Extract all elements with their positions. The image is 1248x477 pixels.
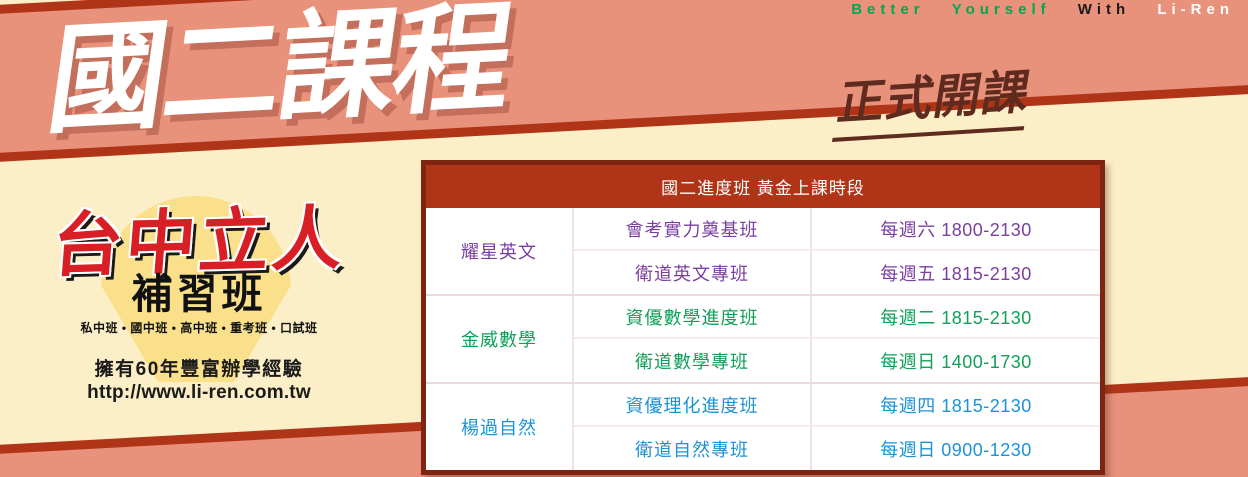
schedule-group-rows: 資優理化進度班每週四 1815-2130衛道自然專班每週日 0900-1230 [574, 384, 1100, 470]
table-row: 衛道英文專班每週五 1815-2130 [574, 251, 1100, 294]
schedule-table: 國二進度班 黃金上課時段 耀星英文會考實力奠基班每週六 1800-2130衛道英… [421, 160, 1105, 475]
schedule-group-rows: 資優數學進度班每週二 1815-2130衛道數學專班每週日 1400-1730 [574, 296, 1100, 382]
schedule-group: 金威數學資優數學進度班每週二 1815-2130衛道數學專班每週日 1400-1… [426, 296, 1100, 384]
schedule-table-body: 耀星英文會考實力奠基班每週六 1800-2130衛道英文專班每週五 1815-2… [426, 208, 1100, 470]
headline-title: 國二課程 [40, 0, 520, 153]
logo-class-tags: 私中班 • 國中班 • 高中班 • 重考班 • 口試班 [24, 319, 374, 336]
logo-experience: 擁有60年豐富辦學經驗 [24, 358, 374, 382]
schedule-course-name: 會考實力奠基班 [574, 208, 812, 249]
schedule-group: 楊過自然資優理化進度班每週四 1815-2130衛道自然專班每週日 0900-1… [426, 384, 1100, 470]
company-logo: 台中立人 補習班 私中班 • 國中班 • 高中班 • 重考班 • 口試班 擁有6… [24, 196, 374, 405]
schedule-subject-name: 耀星英文 [426, 208, 574, 294]
tagline-word-better: Better [851, 1, 924, 18]
table-row: 會考實力奠基班每週六 1800-2130 [574, 208, 1100, 251]
tagline-word-yourself: Yourself [952, 1, 1051, 18]
promotional-banner: Better Yourself With Li-Ren 國二課程 正式開課 台中… [0, 0, 1248, 477]
schedule-subject-name: 金威數學 [426, 296, 574, 382]
logo-brand-type: 補習班 [24, 273, 374, 316]
table-row: 衛道自然專班每週日 0900-1230 [574, 427, 1100, 470]
schedule-course-time: 每週日 1400-1730 [812, 339, 1100, 382]
table-row: 資優理化進度班每週四 1815-2130 [574, 384, 1100, 427]
schedule-course-name: 衛道自然專班 [574, 427, 812, 470]
schedule-course-time: 每週二 1815-2130 [812, 296, 1100, 337]
schedule-course-time: 每週四 1815-2130 [812, 384, 1100, 425]
tagline-word-liren: Li-Ren [1157, 1, 1234, 18]
english-tagline: Better Yourself With Li-Ren [0, 1, 1248, 18]
schedule-subject-name: 楊過自然 [426, 384, 574, 470]
schedule-course-name: 資優數學進度班 [574, 296, 812, 337]
schedule-group-rows: 會考實力奠基班每週六 1800-2130衛道英文專班每週五 1815-2130 [574, 208, 1100, 294]
logo-website-url[interactable]: http://www.li-ren.com.tw [24, 382, 374, 405]
schedule-table-header: 國二進度班 黃金上課時段 [426, 165, 1100, 208]
table-row: 衛道數學專班每週日 1400-1730 [574, 339, 1100, 382]
schedule-course-name: 衛道數學專班 [574, 339, 812, 382]
schedule-course-time: 每週五 1815-2130 [812, 251, 1100, 294]
schedule-group: 耀星英文會考實力奠基班每週六 1800-2130衛道英文專班每週五 1815-2… [426, 208, 1100, 296]
headline-subtitle: 正式開課 [832, 52, 1037, 142]
schedule-course-time: 每週日 0900-1230 [812, 427, 1100, 470]
table-row: 資優數學進度班每週二 1815-2130 [574, 296, 1100, 339]
schedule-course-name: 衛道英文專班 [574, 251, 812, 294]
schedule-course-name: 資優理化進度班 [574, 384, 812, 425]
tagline-word-with: With [1078, 1, 1130, 18]
schedule-course-time: 每週六 1800-2130 [812, 208, 1100, 249]
